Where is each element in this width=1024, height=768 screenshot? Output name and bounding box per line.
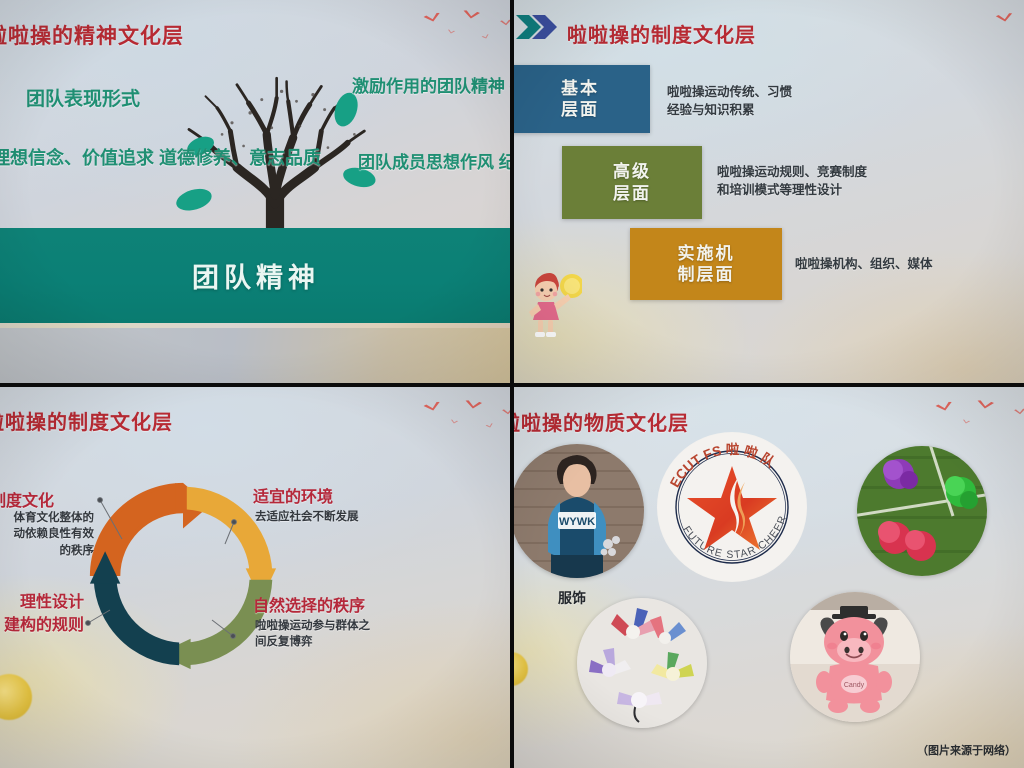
photo-pompom: [857, 446, 987, 576]
caption-uniform: 服饰: [558, 588, 586, 608]
photo-uniform: WYWK: [512, 444, 644, 578]
team-spirit-banner: 团队精神: [0, 228, 512, 323]
layer-box-implementation-line1: 实施机: [678, 243, 735, 264]
spirit-left-bottom-text: 理想信念、价值追求 道德修养、意志品质: [0, 147, 321, 170]
spirit-right-top-text: 激励作用的团队精神 拼搏进取的竞争精神: [352, 76, 512, 98]
cycle-node-natural-selection-heading: 自然选择的秩序: [253, 592, 365, 616]
cycle-node-rational-design-heading: 理性设计 建构的规则: [0, 591, 84, 637]
panel-institution-cycle: 啦啦操的制度文化层: [0, 384, 512, 768]
panel-divider-vertical: [510, 0, 514, 768]
cheerleader-girl-icon: [520, 266, 582, 342]
four-panel-slide-grid: 啦啦操的精神文化层: [0, 0, 1024, 768]
layer-box-advanced-line1: 高级: [613, 161, 651, 182]
layer-box-basic[interactable]: 基本 层面: [512, 65, 650, 133]
cycle-leader-line-left-bottom: [0, 384, 512, 768]
cycle-node-natural-selection-sub: 啦啦操运动参与群体之 间反复博弈: [255, 618, 370, 651]
layer-box-advanced-line2: 层面: [613, 183, 651, 204]
image-source-note: （图片来源于网络）: [917, 742, 1016, 758]
photo-headwear: [577, 598, 707, 728]
panel-title-material: 啦啦操的物质文化层: [512, 407, 689, 436]
slide-footer-strip: [0, 328, 512, 384]
panel-title-institution: 啦啦操的制度文化层: [567, 19, 756, 48]
layer-box-basic-line1: 基本: [561, 78, 599, 99]
layer-box-basic-line2: 层面: [561, 99, 599, 120]
cycle-node-suitable-environment-heading: 适宜的环境: [253, 483, 333, 507]
panel-material-culture: 啦啦操的物质文化层: [512, 384, 1024, 768]
spirit-left-top-text: 团队表现形式: [26, 88, 140, 112]
photo-mascot: Candy: [790, 592, 920, 722]
cycle-node-suitable-environment-sub: 去适应社会不断发展: [255, 509, 359, 525]
cycle-node-institution-culture-heading: 制度文化: [0, 487, 54, 511]
panel-spirit-culture: 啦啦操的精神文化层: [0, 0, 512, 384]
layer-desc-basic: 啦啦操运动传统、习惯 经验与知识积累: [667, 83, 792, 119]
layer-box-implementation-line2: 制层面: [678, 264, 735, 285]
layer-desc-advanced: 啦啦操运动规则、竞赛制度 和培训模式等理性设计: [717, 163, 867, 199]
layer-box-advanced[interactable]: 高级 层面: [562, 146, 702, 219]
svg-text:Candy: Candy: [844, 682, 865, 689]
panel-title-spirit: 啦啦操的精神文化层: [0, 20, 184, 50]
spirit-right-bottom-text: 团队成员思想作风 纪律性、凝聚力和士: [358, 152, 512, 174]
svg-text:WYWK: WYWK: [559, 516, 595, 528]
team-spirit-banner-label: 团队精神: [192, 256, 320, 295]
cycle-node-institution-culture-sub: 体育文化整体的 动依赖良性有效 的秩序: [0, 510, 94, 559]
panel-institution-layers: 啦啦操的制度文化层 基本 层面 啦啦操运动传统、习惯 经验与知识积累 高级 层面…: [512, 0, 1024, 384]
layer-box-implementation[interactable]: 实施机 制层面: [630, 228, 782, 300]
photo-emblem: ECUT FS 啦 啦 队 FUTURE STAR CHEER lEADING: [657, 432, 807, 582]
layer-desc-implementation: 啦啦操机构、组织、媒体: [795, 255, 933, 273]
chevron-right-icon: [516, 13, 562, 41]
